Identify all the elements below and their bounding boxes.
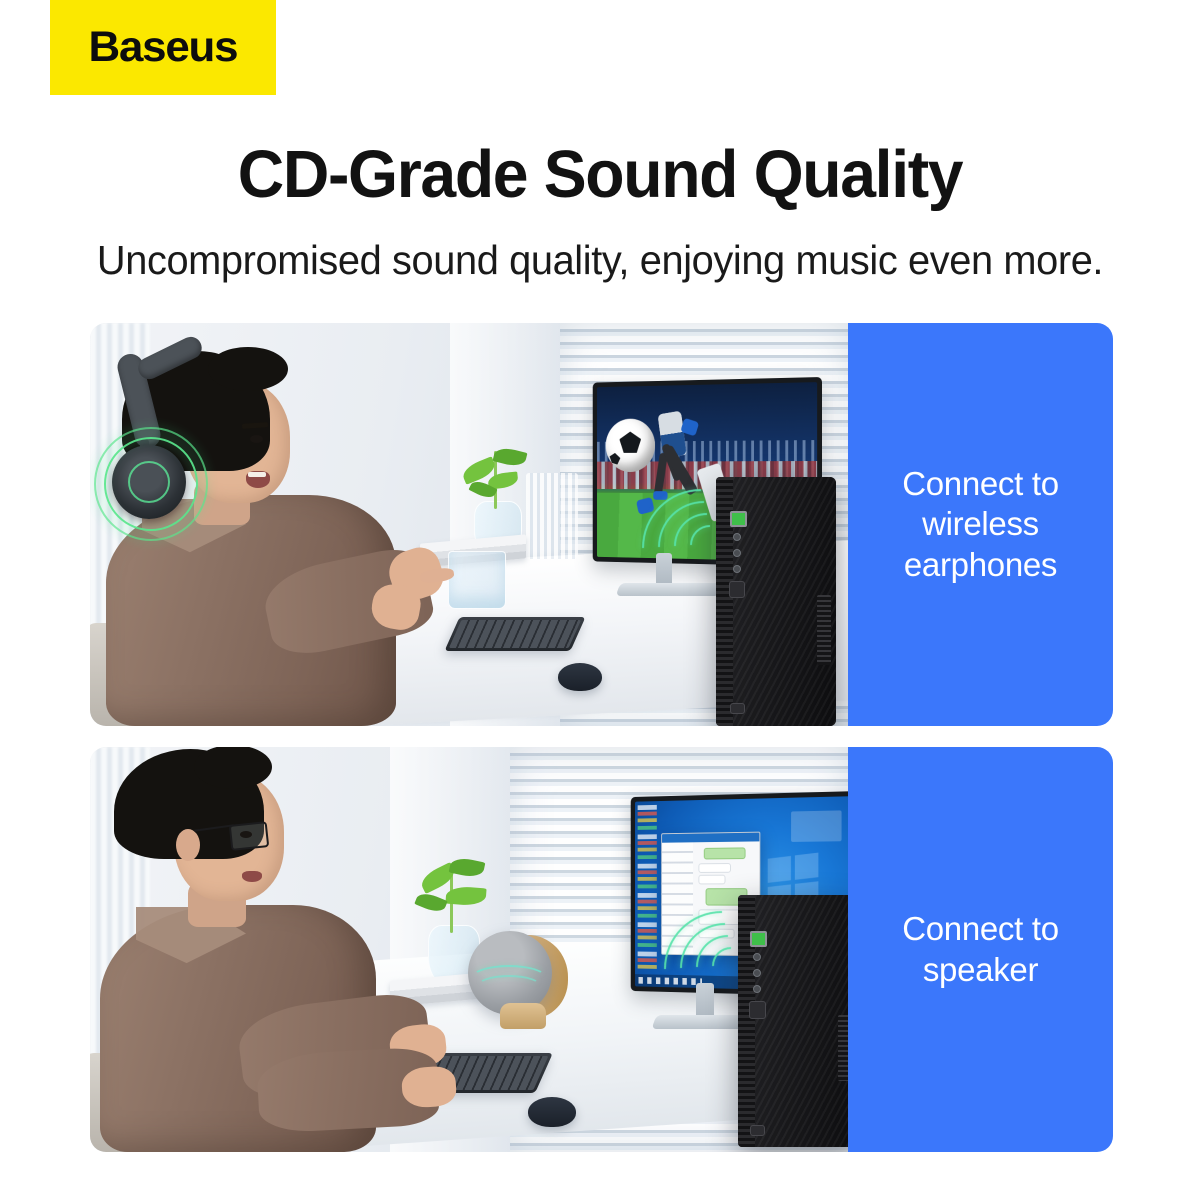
card-label-speaker: Connect to speaker [848, 909, 1113, 990]
chat-bubble [703, 847, 745, 859]
card-label-earphones: Connect to wireless earphones [848, 464, 1113, 585]
mouse[interactable] [558, 663, 602, 691]
person-eye [240, 831, 252, 838]
person-hand [401, 1065, 458, 1109]
person-teeth [248, 472, 266, 477]
marketing-page: Baseus CD-Grade Sound Quality Uncompromi… [0, 0, 1200, 1200]
page-subtitle: Uncompromised sound quality, enjoying mu… [18, 240, 1182, 281]
pc-tower-vent [838, 1015, 848, 1081]
wireless-signal-arcs-speaker [652, 919, 772, 1039]
person-hair [208, 347, 288, 391]
person-hair [194, 747, 272, 789]
mouse[interactable] [528, 1097, 576, 1127]
person-eye [250, 435, 263, 443]
person-typing [90, 747, 510, 1152]
chat-bubble [698, 875, 725, 885]
wireless-signal-arcs-earphones [632, 499, 752, 619]
scene-photo-earphones [90, 323, 848, 726]
soccer-ball [606, 418, 655, 472]
person-mouth [242, 871, 262, 882]
feature-card-speaker: Connect to speaker [90, 747, 1113, 1152]
pc-tower-vent [817, 595, 831, 665]
brand-logo-text: Baseus [89, 26, 238, 69]
pc-tower-front-slot [730, 703, 745, 714]
feature-card-wireless-earphones: Connect to wireless earphones [90, 323, 1113, 726]
chat-bubble [698, 863, 731, 873]
person-with-headphones [90, 323, 490, 726]
desktop-widget[interactable] [791, 810, 841, 842]
pc-tower-front-slot [750, 1125, 765, 1136]
paper-organizer [526, 473, 578, 559]
brand-logo: Baseus [50, 0, 276, 95]
card-label-panel-speaker: Connect to speaker [848, 747, 1113, 1152]
headphone-glow-ring [94, 427, 208, 541]
scene-photo-speaker [90, 747, 848, 1152]
person-ear [176, 829, 200, 861]
card-label-panel-earphones: Connect to wireless earphones [848, 323, 1113, 726]
page-title: CD-Grade Sound Quality [24, 141, 1176, 208]
